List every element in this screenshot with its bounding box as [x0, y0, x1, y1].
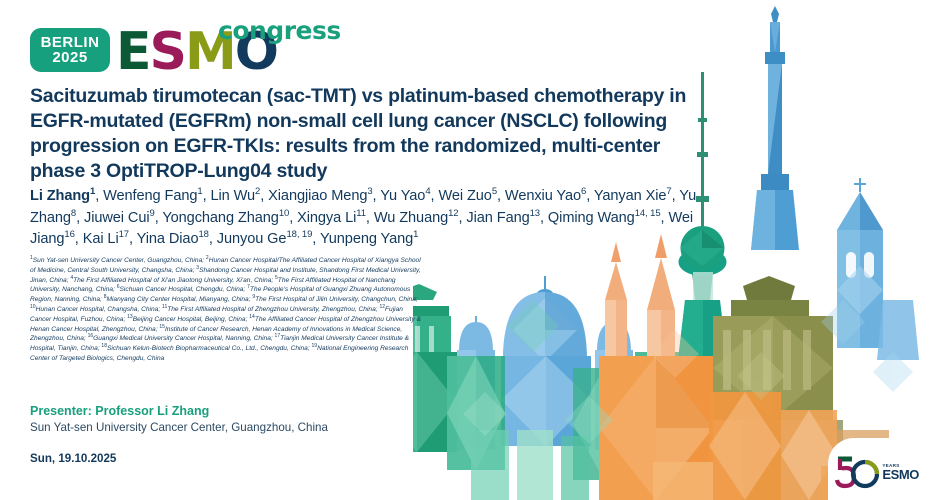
- author-affiliation-ref: 1: [90, 186, 95, 197]
- author-name: Yongchang Zhang: [162, 210, 278, 226]
- affiliation-list: 1Sun Yat-sen University Cancer Center, G…: [30, 256, 422, 364]
- author-name: Junyou Ge: [217, 231, 287, 247]
- author-affiliation-ref: 2: [255, 186, 260, 197]
- author-entry: Wei Zuo5: [438, 188, 497, 204]
- author-affiliation-ref: 16: [64, 229, 74, 240]
- author-name: Yina Diao: [137, 231, 199, 247]
- anniversary-labels: YEARS ESMO: [882, 463, 919, 481]
- author-affiliation-ref: 18, 19: [286, 229, 312, 240]
- author-affiliation-ref: 17: [119, 229, 129, 240]
- affiliation-text: The First Affiliated Hospital of Zhengzh…: [167, 306, 376, 313]
- presenter-affiliation: Sun Yat-sen University Cancer Center, Gu…: [30, 421, 328, 434]
- esmo-letter-e: E: [116, 31, 150, 74]
- affiliation-text: The First Hospital of Jilin University, …: [255, 296, 416, 303]
- author-name: Wenxiu Yao: [505, 188, 581, 204]
- author-entry: Xiangjiao Meng3: [268, 188, 372, 204]
- author-name: Kai Li: [83, 231, 119, 247]
- author-affiliation-ref: 1: [197, 186, 202, 197]
- author-name: Xiangjiao Meng: [268, 188, 367, 204]
- author-name: Qiming Wang: [548, 210, 635, 226]
- affiliation-text: Sichuan Kelun-Biotech Biopharmaceutical …: [107, 345, 308, 352]
- author-entry: Jian Fang13: [466, 210, 540, 226]
- author-affiliation-ref: 7: [666, 186, 671, 197]
- author-affiliation-ref: 12: [448, 208, 458, 219]
- presentation-title: Sacituzumab tirumotecan (sac-TMT) vs pla…: [30, 84, 720, 184]
- author-entry: Yanyan Xie7: [594, 188, 672, 204]
- author-affiliation-ref: 10: [279, 208, 289, 219]
- author-affiliation-ref: 4: [425, 186, 430, 197]
- author-affiliation-ref: 6: [581, 186, 586, 197]
- facet-overlay: [463, 300, 913, 444]
- badge-city-label: BERLIN: [41, 35, 100, 50]
- author-affiliation-ref: 1: [413, 229, 418, 240]
- church-right: [837, 178, 919, 360]
- author-entry: Junyou Ge18, 19: [217, 231, 313, 247]
- author-name: Yunpeng Yang: [320, 231, 413, 247]
- affiliation-text: Mianyang City Center Hospital, Mianyang,…: [106, 296, 248, 303]
- skyline-green-blocks: [447, 352, 685, 500]
- congress-wordmark: congress: [218, 16, 341, 45]
- esmo-letter-s: S: [150, 31, 185, 74]
- author-entry: Kai Li17: [83, 231, 129, 247]
- author-entry: Yu Yao4: [380, 188, 430, 204]
- orange-twin-spires: [599, 234, 713, 500]
- affiliation-text: Sichuan Cancer Hospital, Chengdu, China: [120, 286, 244, 293]
- author-entry: Yina Diao18: [137, 231, 209, 247]
- author-entry: Xingya Li11: [297, 210, 366, 226]
- author-name: Yu Yao: [380, 188, 425, 204]
- author-affiliation-ref: 13: [530, 208, 540, 219]
- author-affiliation-ref: 18: [198, 229, 208, 240]
- anniversary-plate: YEARS ESMO: [828, 438, 933, 500]
- author-affiliation-ref: 8: [71, 208, 76, 219]
- author-name: Wei Zuo: [438, 188, 491, 204]
- author-name: Jian Fang: [466, 210, 529, 226]
- author-entry: Wenxiu Yao6: [505, 188, 586, 204]
- badge-year-label: 2025: [52, 50, 87, 65]
- author-name: Yanyan Xie: [594, 188, 667, 204]
- author-entry: Wenfeng Fang1: [103, 188, 202, 204]
- author-affiliation-ref: 9: [150, 208, 155, 219]
- author-entry: Li Zhang1: [30, 188, 95, 204]
- author-entry: Qiming Wang14, 15: [548, 210, 661, 226]
- reichstag: [713, 276, 843, 500]
- affiliation-text: Hunan Cancer Hospital, Changsha, China: [36, 306, 159, 313]
- author-list: Li Zhang1, Wenfeng Fang1, Lin Wu2, Xiang…: [30, 186, 730, 251]
- author-entry: Yongchang Zhang10: [162, 210, 289, 226]
- author-entry: Wu Zhuang12: [374, 210, 459, 226]
- berlin-2025-badge: BERLIN 2025: [30, 28, 110, 72]
- author-entry: Yunpeng Yang1: [320, 231, 418, 247]
- author-affiliation-ref: 3: [367, 186, 372, 197]
- fifty-numeral-icon: [834, 455, 880, 489]
- author-name: Jiuwei Cui: [84, 210, 150, 226]
- esmo-50-years-logo: YEARS ESMO: [834, 454, 919, 490]
- author-affiliation-ref: 11: [356, 208, 366, 219]
- esmo-label: ESMO: [882, 468, 919, 481]
- presenter-line: Presenter: Professor Li Zhang: [30, 404, 209, 418]
- affiliation-text: Guangxi Medical University Cancer Hospit…: [93, 335, 271, 342]
- author-affiliation-ref: 5: [492, 186, 497, 197]
- victory-column: [751, 6, 799, 250]
- affiliation-text: Sun Yat-sen University Cancer Center, Gu…: [33, 257, 202, 264]
- author-affiliation-ref: 14, 15: [635, 208, 661, 219]
- presentation-date: Sun, 19.10.2025: [30, 452, 116, 465]
- affiliation-text: Beijing Cancer Hospital, Beijing, China: [133, 316, 246, 323]
- berlin-cathedral: [457, 276, 633, 450]
- author-entry: Lin Wu2: [210, 188, 260, 204]
- author-entry: Jiuwei Cui9: [84, 210, 155, 226]
- author-name: Wenfeng Fang: [103, 188, 197, 204]
- author-name: Xingya Li: [297, 210, 356, 226]
- author-name: Wu Zhuang: [374, 210, 448, 226]
- affiliation-text: The First Affiliated Hospital of Xi'an J…: [73, 277, 271, 284]
- presentation-slide: BERLIN 2025 E S M O congress Sacituzumab…: [0, 0, 933, 500]
- author-name: Lin Wu: [210, 188, 255, 204]
- author-name: Li Zhang: [30, 188, 90, 204]
